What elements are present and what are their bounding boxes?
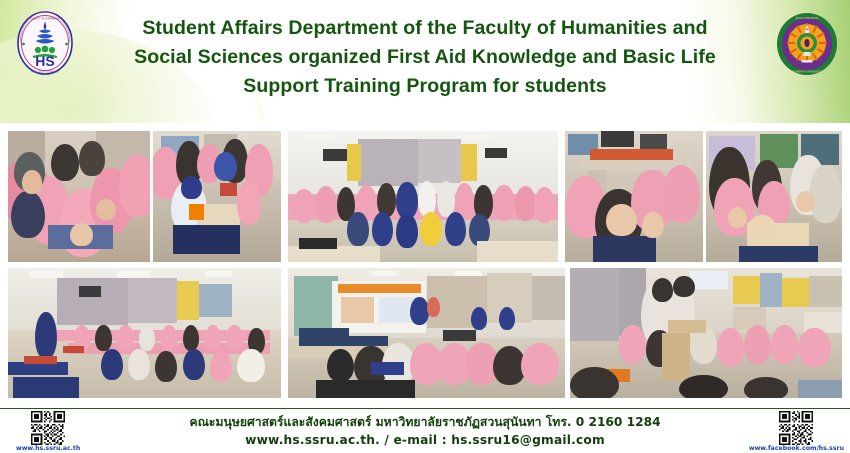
title-line-2: Social Sciences organized First Aid Know…	[85, 43, 765, 72]
hs-logo-monogram: HS	[35, 53, 54, 69]
photo-manikin-compression	[706, 131, 842, 262]
poster-header: HS FACULTY OF HUMANITIES AND SOCIAL SCIE…	[0, 0, 850, 123]
qr-code-facebook[interactable]: www.facebook.com/hs.ssru	[749, 411, 844, 452]
svg-text:RAJABHAT UNIVERSITY: RAJABHAT UNIVERSITY	[792, 70, 821, 74]
title-line-1: Student Affairs Department of the Facult…	[85, 14, 765, 43]
photo-group-photo-lecture-hall	[288, 131, 558, 262]
title-line-3: Support Training Program for students	[85, 72, 765, 101]
footer-contact-block: คณะมนุษยศาสตร์และสังคมศาสตร์ มหาวิทยาลัย…	[90, 413, 760, 450]
qr-code-facebook-icon[interactable]	[779, 411, 813, 445]
photo-cpr-group-practice	[8, 131, 150, 262]
svg-text:SUAN SUNANDHA: SUAN SUNANDHA	[795, 16, 818, 20]
footer-faculty-line: คณะมนุษยศาสตร์และสังคมศาสตร์ มหาวิทยาลัย…	[90, 413, 760, 431]
qr-code-facebook-caption: www.facebook.com/hs.ssru	[749, 445, 844, 452]
footer-web-email-line: www.hs.ssru.ac.th. / e-mail : hs.ssru16@…	[90, 431, 760, 450]
photo-pair-practice-bandaging	[565, 131, 703, 262]
ssru-university-logo-icon: SUAN SUNANDHA RAJABHAT UNIVERSITY	[776, 12, 838, 76]
photo-gallery	[0, 123, 850, 408]
svg-text:FACULTY OF HUMANITIES: FACULTY OF HUMANITIES	[30, 18, 60, 21]
photo-hands-on-session	[570, 268, 842, 398]
poster-root: HS FACULTY OF HUMANITIES AND SOCIAL SCIE…	[0, 0, 850, 453]
photo-aed-demonstration	[153, 131, 281, 262]
photo-seminar-room-wide	[8, 268, 281, 398]
qr-code-website[interactable]: www.hs.ssru.ac.th	[16, 411, 80, 452]
hs-faculty-logo-icon: HS FACULTY OF HUMANITIES AND SOCIAL SCIE…	[16, 11, 74, 75]
poster-footer: www.hs.ssru.ac.th คณะมนุษยศาสตร์และสังคม…	[0, 408, 850, 453]
qr-code-website-icon[interactable]	[31, 411, 65, 445]
qr-code-website-caption: www.hs.ssru.ac.th	[16, 445, 80, 452]
photo-projector-presentation	[288, 268, 565, 398]
svg-text:AND SOCIAL SCIENCES: AND SOCIAL SCIENCES	[31, 71, 59, 74]
poster-title: Student Affairs Department of the Facult…	[85, 14, 765, 101]
